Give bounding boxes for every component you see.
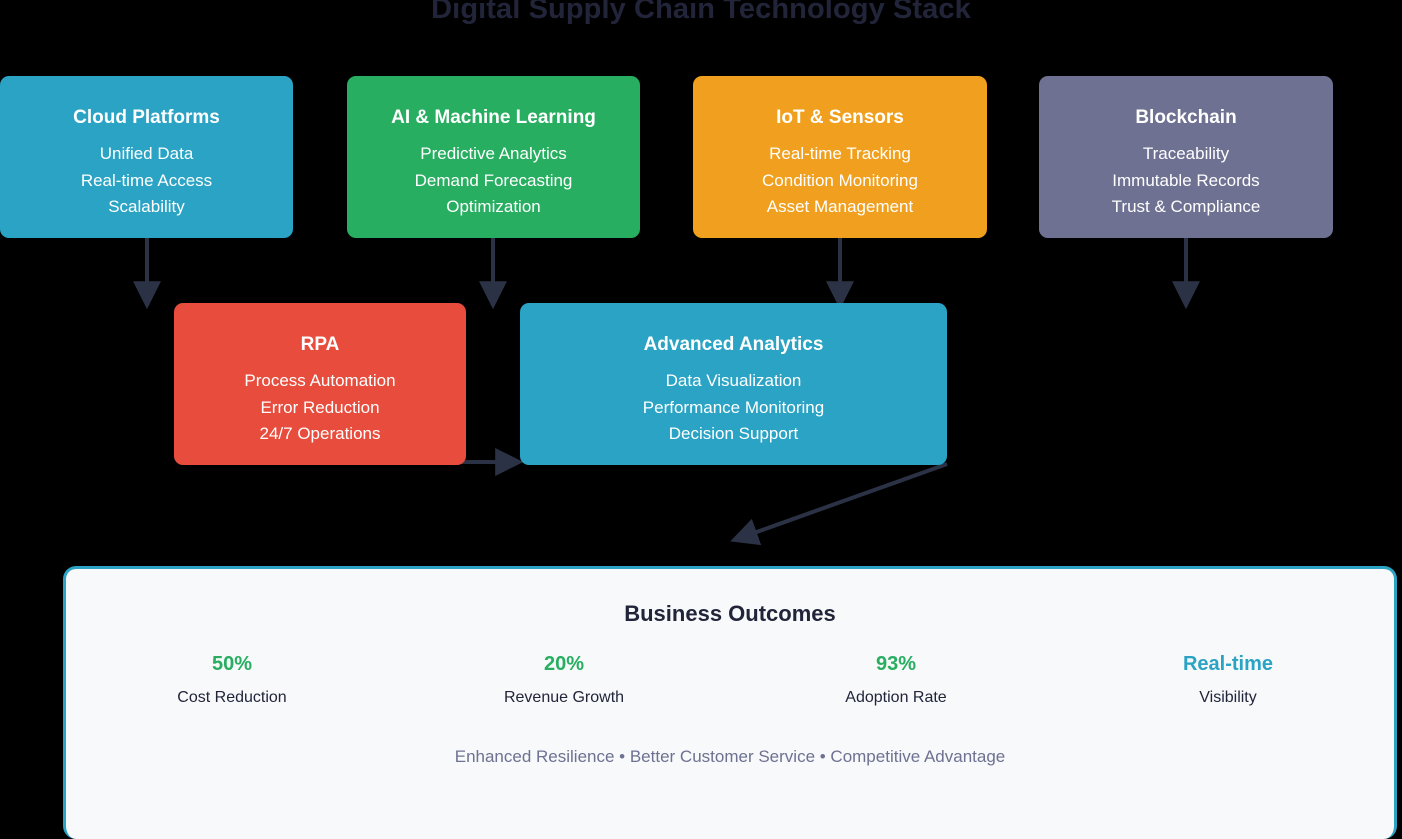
process-box-item: Process Automation — [174, 368, 466, 395]
tech-box-item: Optimization — [347, 194, 640, 221]
process-box-item: Performance Monitoring — [520, 395, 947, 422]
diagram-canvas: Digital Supply Chain Technology Stack Cl… — [0, 0, 1402, 839]
tech-box-item: Predictive Analytics — [347, 141, 640, 168]
process-box-item: Error Reduction — [174, 395, 466, 422]
tech-box-blockchain[interactable]: Blockchain Traceability Immutable Record… — [1039, 76, 1333, 238]
metric-value: 50% — [66, 652, 398, 676]
arrow-analytics-to-outcomes — [737, 464, 947, 539]
metric-label: Cost Reduction — [66, 688, 398, 708]
tech-box-title: IoT & Sensors — [693, 106, 987, 130]
process-box-rpa[interactable]: RPA Process Automation Error Reduction 2… — [174, 303, 466, 465]
metric-visibility: Real-time Visibility — [1062, 652, 1394, 708]
tech-box-title: Cloud Platforms — [0, 106, 293, 130]
metric-value: Real-time — [1062, 652, 1394, 676]
metric-value: 93% — [730, 652, 1062, 676]
metric-value: 20% — [398, 652, 730, 676]
tech-box-item: Real-time Access — [0, 168, 293, 195]
tech-box-title: Blockchain — [1039, 106, 1333, 130]
process-box-item: 24/7 Operations — [174, 421, 466, 448]
metric-cost-reduction: 50% Cost Reduction — [66, 652, 398, 708]
tech-box-item: Unified Data — [0, 141, 293, 168]
tech-box-item: Immutable Records — [1039, 168, 1333, 195]
tech-box-iot-sensors[interactable]: IoT & Sensors Real-time Tracking Conditi… — [693, 76, 987, 238]
tech-box-item: Traceability — [1039, 141, 1333, 168]
tech-box-item: Real-time Tracking — [693, 141, 987, 168]
page-title: Digital Supply Chain Technology Stack — [0, 0, 1402, 26]
tech-box-item: Scalability — [0, 194, 293, 221]
process-box-title: Advanced Analytics — [520, 333, 947, 357]
metric-adoption-rate: 93% Adoption Rate — [730, 652, 1062, 708]
process-box-advanced-analytics[interactable]: Advanced Analytics Data Visualization Pe… — [520, 303, 947, 465]
tech-box-ai-machine-learning[interactable]: AI & Machine Learning Predictive Analyti… — [347, 76, 640, 238]
outcomes-footer: Enhanced Resilience • Better Customer Se… — [66, 746, 1394, 767]
metric-label: Visibility — [1062, 688, 1394, 708]
tech-box-title: AI & Machine Learning — [347, 106, 640, 130]
tech-box-item: Demand Forecasting — [347, 168, 640, 195]
process-box-item: Data Visualization — [520, 368, 947, 395]
tech-box-item: Trust & Compliance — [1039, 194, 1333, 221]
tech-box-item: Asset Management — [693, 194, 987, 221]
business-outcomes-panel: Business Outcomes 50% Cost Reduction 20%… — [63, 566, 1397, 839]
metric-revenue-growth: 20% Revenue Growth — [398, 652, 730, 708]
metrics-row: 50% Cost Reduction 20% Revenue Growth 93… — [66, 652, 1394, 708]
metric-label: Adoption Rate — [730, 688, 1062, 708]
process-box-title: RPA — [174, 333, 466, 357]
tech-box-cloud-platforms[interactable]: Cloud Platforms Unified Data Real-time A… — [0, 76, 293, 238]
tech-box-item: Condition Monitoring — [693, 168, 987, 195]
outcomes-title: Business Outcomes — [66, 601, 1394, 627]
process-box-item: Decision Support — [520, 421, 947, 448]
metric-label: Revenue Growth — [398, 688, 730, 708]
